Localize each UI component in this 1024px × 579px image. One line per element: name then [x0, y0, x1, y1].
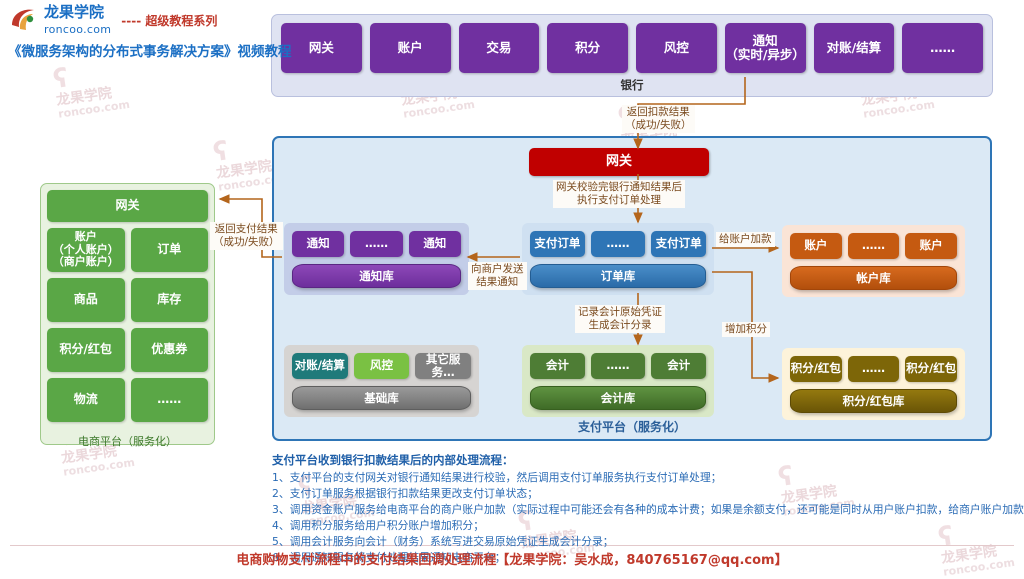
order-database: 订单库: [530, 264, 706, 288]
ecom-account-line2: （个人账户）: [53, 243, 119, 256]
ecom-node-more[interactable]: ……: [131, 378, 209, 422]
account-chip-1[interactable]: 账户: [790, 233, 842, 259]
ecom-node-coupon[interactable]: 优惠券: [131, 328, 209, 372]
payment-order-service-group: 支付订单 …… 支付订单 订单库: [522, 223, 714, 295]
roncoo-logo-icon: [8, 5, 40, 35]
arrow-label-gateway-to-order: 网关校验完银行通知结果后执行支付订单处理: [553, 180, 685, 208]
arrow-label-to-points: 增加积分: [722, 322, 770, 337]
bank-panel: 网关 账户 交易 积分 风控 通知 （实时/异步） 对账/结算 …… 银行: [271, 14, 993, 97]
accounting-chip-ellipsis: ……: [591, 353, 646, 379]
ecom-node-account[interactable]: 账户 （个人账户） （商户账户）: [47, 228, 125, 272]
ecommerce-group-label: 电商平台（服务化）: [41, 433, 214, 449]
points-chip-ellipsis: ……: [848, 356, 900, 382]
arrow-label-order-to-notify: 向商户发送结果通知: [468, 262, 527, 290]
order-chip-2[interactable]: 支付订单: [651, 231, 706, 257]
bank-group-label: 银行: [272, 77, 992, 93]
account-chip-2[interactable]: 账户: [905, 233, 957, 259]
note-item-4: 4、调用积分服务给用户积分账户增加积分；: [272, 518, 1012, 534]
ecom-account-line3: （商户账户）: [53, 255, 119, 268]
account-database: 帐户库: [790, 266, 957, 290]
ecom-node-logistics[interactable]: 物流: [47, 378, 125, 422]
bank-node-riskcontrol[interactable]: 风控: [636, 23, 717, 73]
notification-database: 通知库: [292, 264, 461, 288]
arrow-label-pay-to-ecom: 返回支付结果（成功/失败）: [210, 222, 283, 250]
bank-notify-line2: （实时/异步）: [725, 47, 805, 62]
arrow-label-order-to-accounting: 记录会计原始凭证生成会计分录: [575, 305, 665, 333]
points-chip-2[interactable]: 积分/红包: [905, 356, 957, 382]
watermark-cn: 龙果学院: [55, 84, 129, 109]
bank-node-points[interactable]: 积分: [547, 23, 628, 73]
accounting-service-group: 会计 …… 会计 会计库: [522, 345, 714, 417]
base-chip-reconciliation[interactable]: 对账/结算: [292, 353, 348, 379]
arrow-label-bank-to-gateway: 返回扣款结果（成功/失败）: [622, 105, 695, 133]
bank-notify-line1: 通知: [753, 33, 778, 48]
bank-node-more[interactable]: ……: [902, 23, 983, 73]
accounting-chip-2[interactable]: 会计: [651, 353, 706, 379]
fund-account-service-group: 账户 …… 账户 帐户库: [782, 225, 965, 297]
note-item-2: 2、支付订单服务根据银行扣款结果更改支付订单状态；: [272, 486, 1012, 502]
notify-chip-1[interactable]: 通知: [292, 231, 344, 257]
notify-chip-2[interactable]: 通知: [409, 231, 461, 257]
bank-node-transaction[interactable]: 交易: [459, 23, 540, 73]
note-item-1: 1、支付平台的支付网关对银行通知结果进行校验，然后调用支付订单服务执行支付订单处…: [272, 470, 1012, 486]
account-chip-ellipsis: ……: [848, 233, 900, 259]
order-chip-1[interactable]: 支付订单: [530, 231, 585, 257]
base-service-group: 对账/结算 风控 其它服务… 基础库: [284, 345, 479, 417]
ecom-node-gateway[interactable]: 网关: [47, 190, 208, 222]
base-database: 基础库: [292, 386, 471, 410]
bank-node-reconciliation[interactable]: 对账/结算: [814, 23, 895, 73]
accounting-chip-1[interactable]: 会计: [530, 353, 585, 379]
footer-title: 电商购物支付流程中的支付结果回调处理流程【龙果学院：吴水成，840765167@…: [0, 549, 1024, 568]
bank-node-gateway[interactable]: 网关: [281, 23, 362, 73]
page-header: 龙果学院 roncoo.com ---- 超级教程系列 《微服务架构的分布式事务…: [8, 4, 270, 62]
ecom-node-product[interactable]: 商品: [47, 278, 125, 322]
payment-group-label: 支付平台（服务化）: [274, 418, 990, 435]
logo-text-cn: 龙果学院: [44, 3, 104, 21]
points-database: 积分/红包库: [790, 389, 957, 413]
ecom-node-points[interactable]: 积分/红包: [47, 328, 125, 372]
accounting-database: 会计库: [530, 386, 706, 410]
points-service-group: 积分/红包 …… 积分/红包 积分/红包库: [782, 348, 965, 420]
order-chip-ellipsis: ……: [591, 231, 646, 257]
note-item-5: 5、调用会计服务向会计（财务）系统写进交易原始凭证生成会计分录；: [272, 534, 1012, 550]
base-chip-riskcontrol[interactable]: 风控: [354, 353, 410, 379]
notes-title: 支付平台收到银行扣款结果后的内部处理流程：: [272, 452, 1012, 468]
note-item-3: 3、调用资金账户服务给电商平台的商户账户加款（实际过程中可能还会有各种的成本计费…: [272, 502, 1012, 518]
payment-gateway-node[interactable]: 网关: [529, 148, 709, 176]
logo-text-en: roncoo.com: [44, 23, 111, 36]
bank-node-account[interactable]: 账户: [370, 23, 451, 73]
ecom-node-inventory[interactable]: 库存: [131, 278, 209, 322]
course-title: 《微服务架构的分布式事务解决方案》视频教程: [8, 40, 270, 60]
watermark-en: roncoo.com: [57, 98, 130, 121]
ecommerce-platform-panel: 网关 账户 （个人账户） （商户账户） 订单 商品 库存 积分/红包 优惠券 物…: [40, 183, 215, 445]
series-label: ---- 超级教程系列: [121, 12, 217, 29]
notification-service-group: 通知 …… 通知 通知库: [284, 223, 469, 295]
ecom-account-line1: 账户: [75, 230, 97, 243]
points-chip-1[interactable]: 积分/红包: [790, 356, 842, 382]
ecom-node-order[interactable]: 订单: [131, 228, 209, 272]
arrow-label-to-account: 给账户加款: [716, 232, 775, 247]
bank-node-notification[interactable]: 通知 （实时/异步）: [725, 23, 806, 73]
base-chip-other-services[interactable]: 其它服务…: [415, 353, 471, 379]
notify-chip-ellipsis: ……: [350, 231, 402, 257]
